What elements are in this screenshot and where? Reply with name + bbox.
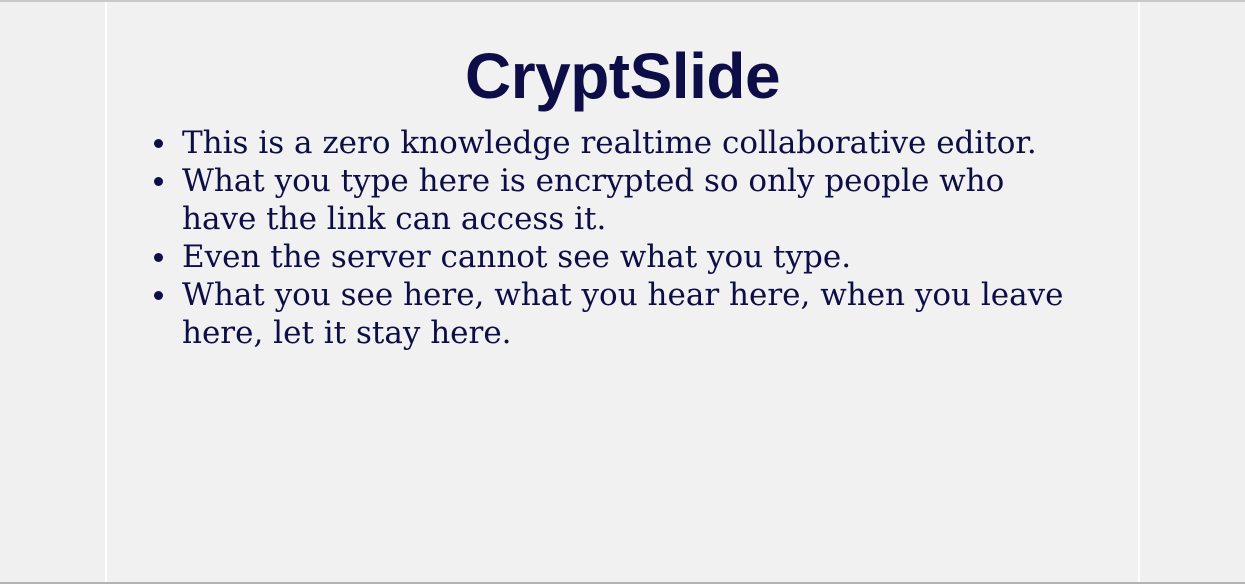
bullet-point-icon (154, 177, 163, 186)
slide-bullet-list[interactable]: This is a zero knowledge realtime collab… (107, 124, 1138, 352)
list-item[interactable]: What you type here is encrypted so only … (152, 162, 1083, 238)
list-item[interactable]: Even the server cannot see what you type… (152, 238, 1083, 276)
right-gutter (1140, 2, 1245, 582)
list-item-text: This is a zero knowledge realtime collab… (182, 124, 1083, 162)
bullet-point-icon (154, 253, 163, 262)
list-item[interactable]: This is a zero knowledge realtime collab… (152, 124, 1083, 162)
list-item[interactable]: What you see here, what you hear here, w… (152, 276, 1083, 352)
list-item-text: What you see here, what you hear here, w… (182, 276, 1083, 352)
left-gutter (0, 2, 105, 582)
slide-viewer: CryptSlide This is a zero knowledge real… (0, 0, 1245, 584)
bullet-point-icon (154, 139, 163, 148)
list-item-text: What you type here is encrypted so only … (182, 162, 1083, 238)
bullet-point-icon (154, 291, 163, 300)
slide-title[interactable]: CryptSlide (107, 2, 1138, 108)
slide-canvas[interactable]: CryptSlide This is a zero knowledge real… (105, 2, 1140, 582)
list-item-text: Even the server cannot see what you type… (182, 238, 1083, 276)
